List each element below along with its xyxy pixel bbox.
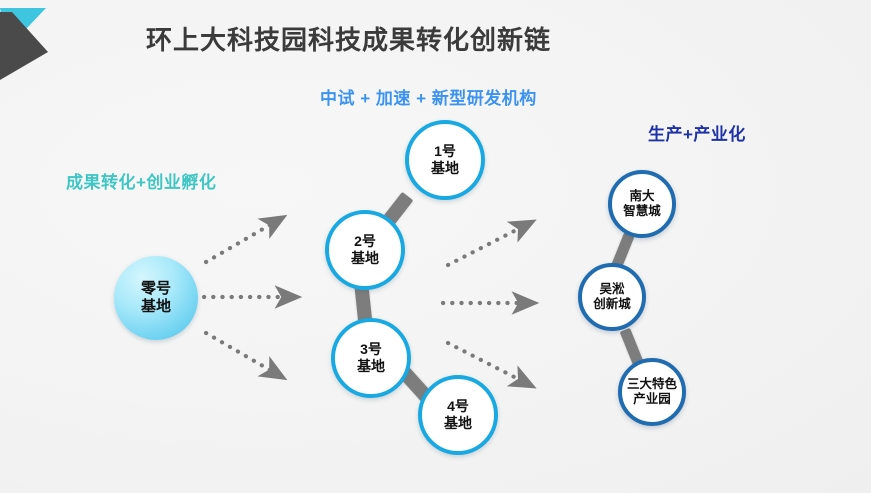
page-title: 环上大科技园科技成果转化创新链 [146, 20, 551, 57]
node-chain-base-3-line2: 基地 [357, 358, 385, 375]
node-chain-base-1-line1: 1号 [434, 143, 456, 160]
node-seed-base[interactable]: 零号 基地 [114, 256, 198, 340]
node-chain-base-4-line1: 4号 [447, 398, 469, 415]
node-output-wusong-innovation-city-line2: 创新城 [593, 297, 631, 312]
node-chain-base-2-line2: 基地 [351, 250, 379, 267]
node-output-nanda-smart-city[interactable]: 南大 智慧城 [608, 170, 676, 238]
arrow-seed-to-chain-upper [206, 222, 275, 262]
stage-label-production: 生产+产业化 [648, 120, 746, 145]
node-chain-base-3[interactable]: 3号 基地 [331, 318, 411, 398]
node-chain-base-1-line2: 基地 [431, 160, 459, 177]
node-chain-base-4-line2: 基地 [444, 415, 472, 432]
corner-triangle-decoration-icon [0, 0, 120, 120]
node-seed-base-line2: 基地 [141, 298, 171, 316]
slide-canvas: 环上大科技园科技成果转化创新链 成果转化+创业孵化 中试 + 加速 + 新型研发… [0, 0, 871, 493]
stage-label-incubation: 成果转化+创业孵化 [66, 168, 216, 193]
node-chain-base-1[interactable]: 1号 基地 [405, 120, 485, 200]
node-chain-base-4[interactable]: 4号 基地 [418, 375, 498, 455]
node-output-three-industrial-parks-line2: 产业园 [633, 392, 671, 407]
node-chain-base-3-line1: 3号 [360, 341, 382, 358]
node-seed-base-line1: 零号 [141, 280, 171, 298]
arrow-seed-to-chain-lower [206, 333, 275, 373]
node-chain-base-2[interactable]: 2号 基地 [325, 210, 405, 290]
node-output-wusong-innovation-city[interactable]: 吴淞 创新城 [578, 263, 646, 331]
node-output-wusong-innovation-city-line1: 吴淞 [599, 282, 624, 297]
stage-label-pilot: 中试 + 加速 + 新型研发机构 [320, 84, 537, 109]
node-output-nanda-smart-city-line1: 南大 [629, 189, 654, 204]
node-output-three-industrial-parks-line1: 三大特色 [627, 377, 677, 392]
arrow-chain-to-output-upper [448, 226, 524, 265]
node-output-nanda-smart-city-line2: 智慧城 [623, 204, 661, 219]
node-chain-base-2-line1: 2号 [354, 233, 376, 250]
node-output-three-industrial-parks[interactable]: 三大特色 产业园 [618, 358, 686, 426]
